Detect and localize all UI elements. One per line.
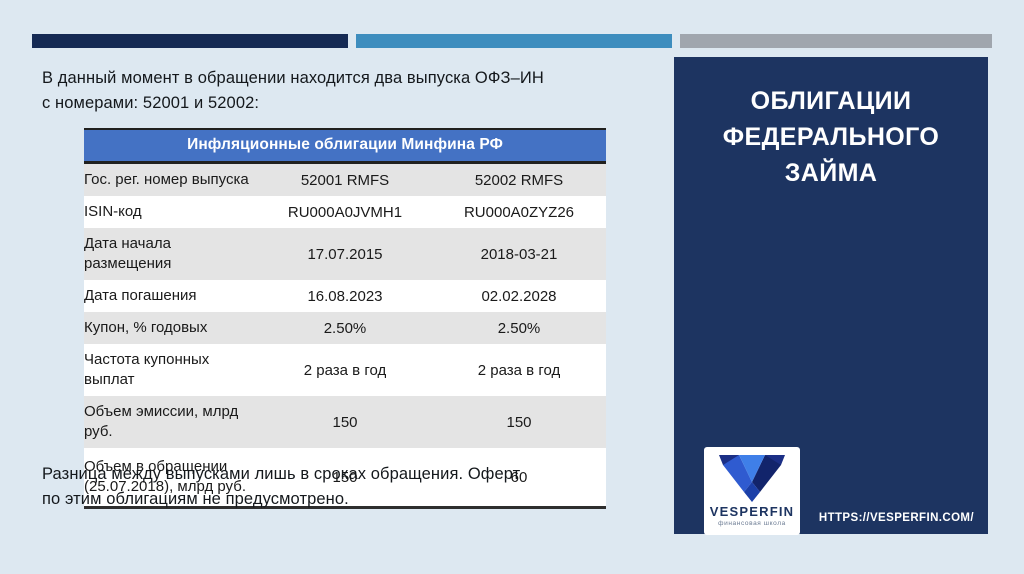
- row-value-issue-52001: 2 раза в год: [258, 344, 432, 396]
- row-value-issue-52001: 52001 RMFS: [258, 163, 432, 197]
- row-label: Дата начала размещения: [84, 228, 258, 280]
- row-value-issue-52002: 52002 RMFS: [432, 163, 606, 197]
- row-value-issue-52002: RU000A0ZYZ26: [432, 196, 606, 228]
- intro-line-1: В данный момент в обращении находится дв…: [42, 69, 544, 87]
- bond-comparison-table: Инфляционные облигации Минфина РФ Гос. р…: [84, 128, 606, 509]
- panel-title: ОБЛИГАЦИИ ФЕДЕРАЛЬНОГО ЗАЙМА: [674, 83, 988, 191]
- table-body: Гос. рег. номер выпуска 52001 RMFS 52002…: [84, 163, 606, 507]
- row-label: Гос. рег. номер выпуска: [84, 163, 258, 197]
- vesperfin-v-logo-icon: [717, 452, 787, 504]
- row-value-issue-52002: 2.50%: [432, 312, 606, 344]
- right-title-panel: ОБЛИГАЦИИ ФЕДЕРАЛЬНОГО ЗАЙМА VESPERFIN ф…: [674, 57, 988, 534]
- row-label: Дата погашения: [84, 280, 258, 312]
- closing-paragraph: Разница между выпусками лишь в сроках об…: [42, 462, 660, 512]
- left-content-column: В данный момент в обращении находится дв…: [0, 0, 672, 574]
- table-row: Дата погашения 16.08.2023 02.02.2028: [84, 280, 606, 312]
- table-title: Инфляционные облигации Минфина РФ: [84, 129, 606, 163]
- table-row: Купон, % годовых 2.50% 2.50%: [84, 312, 606, 344]
- table-row: ISIN-код RU000A0JVMH1 RU000A0ZYZ26: [84, 196, 606, 228]
- row-value-issue-52002: 2018-03-21: [432, 228, 606, 280]
- row-value-issue-52002: 02.02.2028: [432, 280, 606, 312]
- row-value-issue-52001: 17.07.2015: [258, 228, 432, 280]
- row-label: Купон, % годовых: [84, 312, 258, 344]
- row-label: Объем эмиссии, млрд руб.: [84, 396, 258, 448]
- top-bar-gray: [680, 34, 992, 48]
- row-label: Частота купонных выплат: [84, 344, 258, 396]
- website-url[interactable]: HTTPS://VESPERFIN.COM/: [674, 512, 988, 524]
- table-row: Объем эмиссии, млрд руб. 150 150: [84, 396, 606, 448]
- closing-line-2: по этим облигациям не предусмотрено.: [42, 487, 660, 512]
- row-value-issue-52001: 2.50%: [258, 312, 432, 344]
- table-row: Частота купонных выплат 2 раза в год 2 р…: [84, 344, 606, 396]
- row-label: ISIN-код: [84, 196, 258, 228]
- table-row: Гос. рег. номер выпуска 52001 RMFS 52002…: [84, 163, 606, 197]
- row-value-issue-52002: 2 раза в год: [432, 344, 606, 396]
- row-value-issue-52001: 150: [258, 396, 432, 448]
- closing-line-1: Разница между выпусками лишь в сроках об…: [42, 465, 520, 483]
- row-value-issue-52001: 16.08.2023: [258, 280, 432, 312]
- intro-paragraph: В данный момент в обращении находится дв…: [42, 66, 660, 116]
- intro-line-2: с номерами: 52001 и 52002:: [42, 91, 660, 116]
- table-row: Дата начала размещения 17.07.2015 2018-0…: [84, 228, 606, 280]
- row-value-issue-52002: 150: [432, 396, 606, 448]
- row-value-issue-52001: RU000A0JVMH1: [258, 196, 432, 228]
